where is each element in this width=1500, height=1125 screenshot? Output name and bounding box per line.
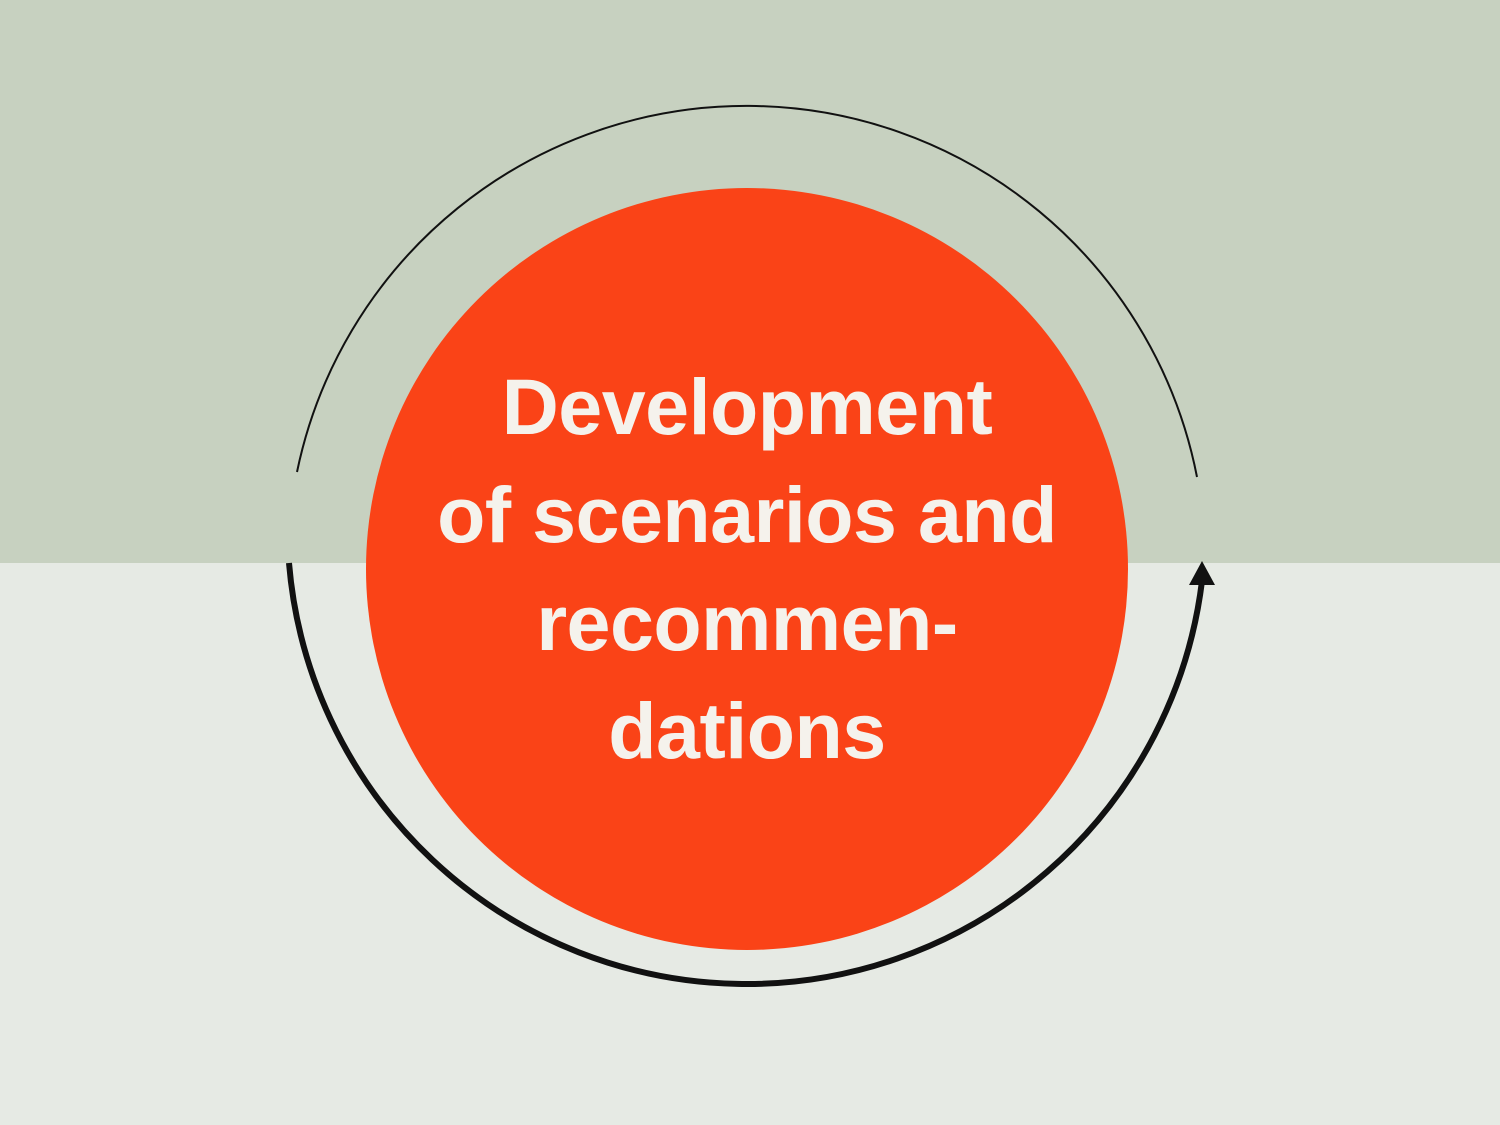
slide-canvas: Development of scenarios and recommen- d…	[0, 0, 1500, 1125]
center-node-label: Development of scenarios and recommen- d…	[397, 353, 1097, 785]
center-node-circle: Development of scenarios and recommen- d…	[366, 188, 1128, 950]
